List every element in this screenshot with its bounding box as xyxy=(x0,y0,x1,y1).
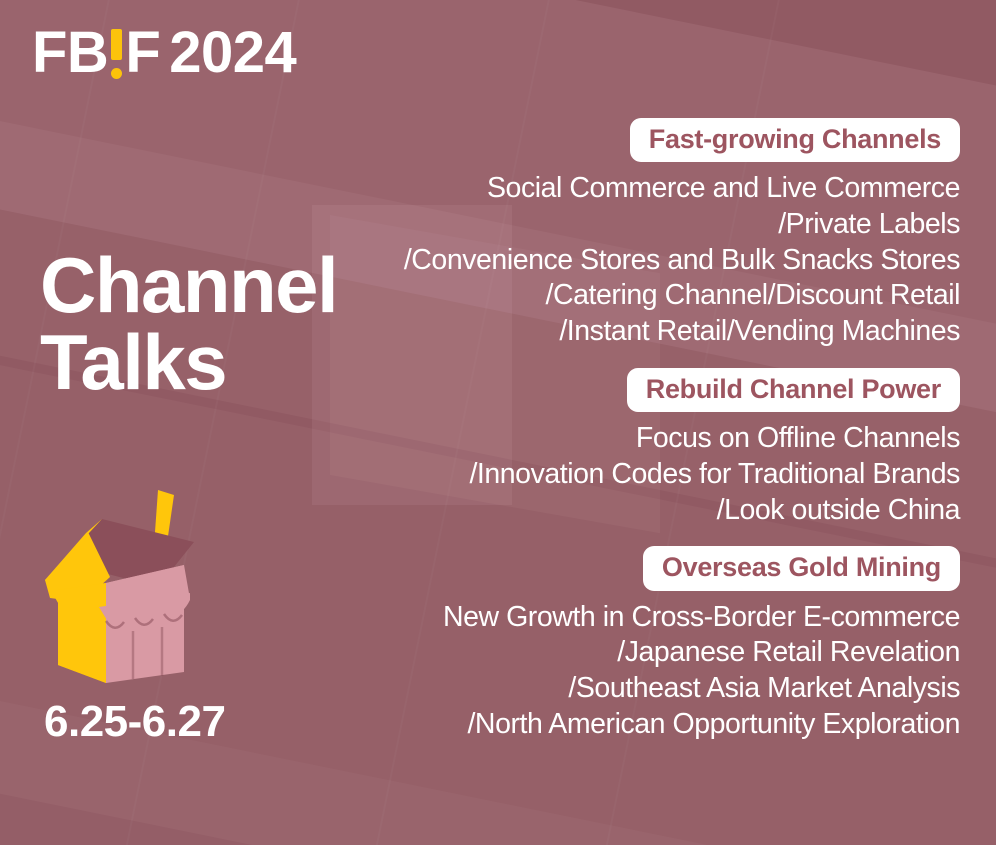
topic-line: /Private Labels xyxy=(320,207,960,243)
fbif-logo: FB F 2024 xyxy=(32,24,296,82)
logo-suffix: F xyxy=(125,24,160,82)
exclamation-mark-icon xyxy=(111,29,122,79)
topic-sections: Fast-growing Channels Social Commerce an… xyxy=(320,118,960,743)
topic-line: /Southeast Asia Market Analysis xyxy=(320,671,960,707)
section-rebuild-channel-power: Rebuild Channel Power Focus on Offline C… xyxy=(320,368,960,528)
topic-line: /Convenience Stores and Bulk Snacks Stor… xyxy=(320,243,960,279)
section-overseas-gold-mining: Overseas Gold Mining New Growth in Cross… xyxy=(320,546,960,742)
topic-line: /Innovation Codes for Traditional Brands xyxy=(320,457,960,493)
exclamation-dot xyxy=(111,68,122,79)
logo-year: 2024 xyxy=(169,24,296,82)
topic-line: /Japanese Retail Revelation xyxy=(320,635,960,671)
logo-prefix: FB xyxy=(32,24,108,82)
section-lines-fast-growing-channels: Social Commerce and Live Commerce /Priva… xyxy=(320,171,960,350)
topic-line: Focus on Offline Channels xyxy=(320,421,960,457)
poster-canvas: FB F 2024 Channel Talks xyxy=(0,0,996,845)
section-badge-overseas-gold-mining: Overseas Gold Mining xyxy=(643,546,960,590)
topic-line: New Growth in Cross-Border E-commerce xyxy=(320,600,960,636)
topic-line: Social Commerce and Live Commerce xyxy=(320,171,960,207)
event-date: 6.25-6.27 xyxy=(44,700,225,744)
topic-line: /North American Opportunity Exploration xyxy=(320,707,960,743)
store-shop-icon xyxy=(44,487,224,697)
topic-line: /Instant Retail/Vending Machines xyxy=(320,314,960,350)
topic-line: /Catering Channel/Discount Retail xyxy=(320,278,960,314)
section-lines-rebuild-channel-power: Focus on Offline Channels /Innovation Co… xyxy=(320,421,960,528)
section-lines-overseas-gold-mining: New Growth in Cross-Border E-commerce /J… xyxy=(320,600,960,743)
topic-line: /Look outside China xyxy=(320,493,960,529)
exclamation-bar xyxy=(111,29,122,60)
section-badge-rebuild-channel-power: Rebuild Channel Power xyxy=(627,368,960,412)
section-fast-growing-channels: Fast-growing Channels Social Commerce an… xyxy=(320,118,960,350)
section-badge-fast-growing-channels: Fast-growing Channels xyxy=(630,118,960,162)
page-title: Channel Talks xyxy=(40,247,337,401)
